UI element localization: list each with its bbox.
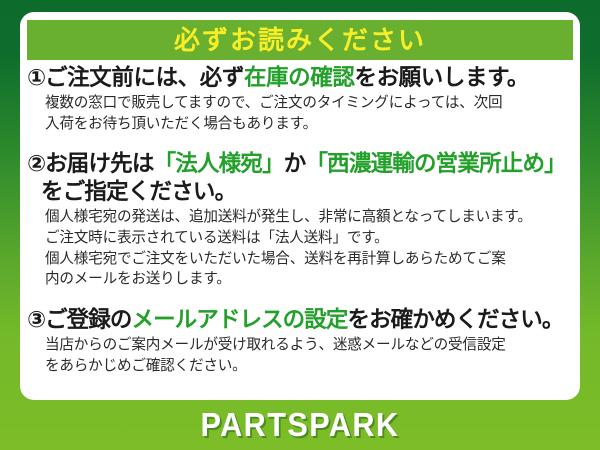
notice-item-2-heading: ②お届け先は「法人様宛」か「西濃運輸の営業所止め」をご指定ください。: [27, 150, 573, 206]
notice-item-2-heading-highlight: 「法人様宛」: [154, 151, 284, 176]
notice-item-2-heading-mid: か: [284, 151, 306, 176]
notice-item-3-heading-highlight: メールアドレスの設定: [131, 307, 347, 332]
notice-item-1-marker: ①: [27, 65, 45, 90]
notice-item-1-body-line-1: 複数の窓口で販売してますので、ご注文のタイミングによっては、次回: [45, 93, 573, 114]
notice-item-2-body-line-2: ご注文時に表示されている送料は「法人送料」です。: [45, 228, 573, 249]
notice-item-1-body: 複数の窓口で販売してますので、ご注文のタイミングによっては、次回 入荷をお待ち頂…: [45, 93, 573, 134]
notice-banner: 必ずお読みください ①ご注文前には、必ず在庫の確認をお願いします。 複数の窓口で…: [0, 0, 600, 450]
notice-items-list: ①ご注文前には、必ず在庫の確認をお願いします。 複数の窓口で販売してますので、ご…: [27, 64, 573, 380]
notice-item-1-heading: ①ご注文前には、必ず在庫の確認をお願いします。: [27, 64, 573, 92]
notice-item-2-heading-line-2: をご指定ください。: [27, 178, 573, 206]
notice-item-2-marker: ②: [27, 151, 45, 176]
notice-item-3-heading-post: をお確かめください。: [347, 307, 563, 332]
notice-item-2-body-line-3: 個人様宅宛でご注文をいただいた場合、送料を再計算しあらためてご案: [45, 249, 573, 270]
notice-item-3-marker: ③: [27, 307, 45, 332]
notice-item-1-heading-highlight: 在庫の確認: [244, 65, 355, 90]
notice-item-3-heading-pre: ご登録の: [45, 307, 131, 332]
notice-item-1: ①ご注文前には、必ず在庫の確認をお願いします。 複数の窓口で販売してますので、ご…: [27, 64, 573, 134]
notice-card: 必ずお読みください ①ご注文前には、必ず在庫の確認をお願いします。 複数の窓口で…: [20, 12, 580, 400]
notice-item-2-heading-highlight-2: 「西濃運輸の営業所止め」: [305, 151, 565, 176]
footer-bar: PARTSPARK: [0, 400, 600, 450]
notice-item-2-heading-pre: お届け先は: [45, 151, 154, 176]
notice-item-2-body-line-1: 個人様宅宛の発送は、追加送料が発生し、非常に高額となってしまいます。: [45, 207, 573, 228]
notice-item-1-heading-post: をお願いします。: [354, 65, 529, 90]
notice-item-3-body-line-2: をあらかじめご確認ください。: [45, 356, 573, 377]
brand-logo-text: PARTSPARK: [201, 406, 400, 444]
notice-item-1-body-line-2: 入荷をお待ち頂いただく場合もあります。: [45, 114, 573, 135]
notice-item-2-body: 個人様宅宛の発送は、追加送料が発生し、非常に高額となってしまいます。 ご注文時に…: [45, 207, 573, 290]
notice-item-2: ②お届け先は「法人様宛」か「西濃運輸の営業所止め」をご指定ください。 個人様宅宛…: [27, 150, 573, 290]
notice-item-3-heading: ③ご登録のメールアドレスの設定をお確かめください。: [27, 306, 573, 334]
header-bar: 必ずお読みください: [27, 20, 573, 60]
notice-item-3-body-line-1: 当店からのご案内メールが受け取れるよう、迷惑メールなどの受信設定: [45, 335, 573, 356]
page-title: 必ずお読みください: [174, 27, 426, 53]
notice-item-1-heading-pre: ご注文前には、必ず: [45, 65, 244, 90]
notice-item-3: ③ご登録のメールアドレスの設定をお確かめください。 当店からのご案内メールが受け…: [27, 306, 573, 376]
notice-item-3-body: 当店からのご案内メールが受け取れるよう、迷惑メールなどの受信設定 をあらかじめご…: [45, 335, 573, 376]
notice-item-2-body-line-4: 内のメールをお送りします。: [45, 269, 573, 290]
